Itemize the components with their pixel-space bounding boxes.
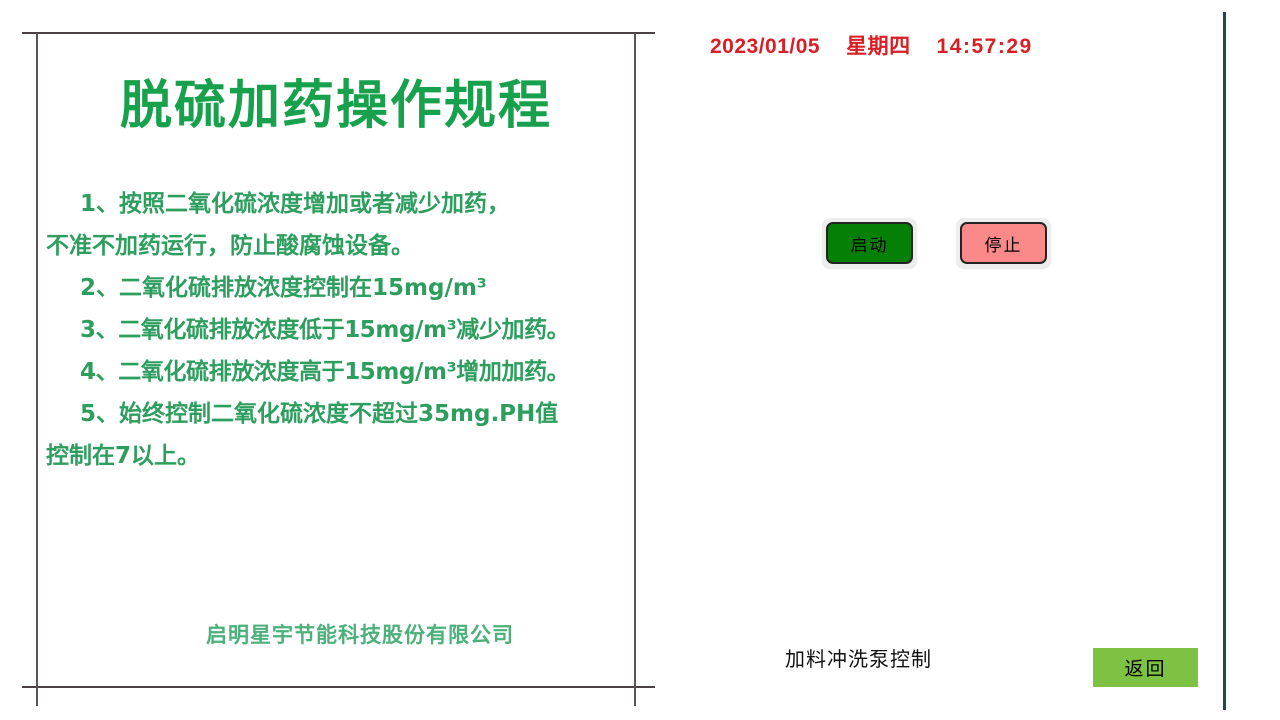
procedure-item-3: 3、二氧化硫排放浓度低于15mg/m³减少加药。 — [38, 309, 634, 351]
right-divider-line — [1223, 12, 1226, 710]
document-company-signature: 启明星宇节能科技股份有限公司 — [38, 619, 634, 649]
document-right-rule — [634, 33, 636, 706]
procedure-item-2: 2、二氧化硫排放浓度控制在15mg/m³ — [38, 267, 634, 309]
procedure-item-1: 1、按照二氧化硫浓度增加或者减少加药， — [38, 183, 634, 225]
procedure-item-1-cont: 不准不加药运行，防止酸腐蚀设备。 — [38, 225, 634, 267]
procedure-item-5-cont: 控制在7以上。 — [38, 435, 634, 477]
procedure-item-5: 5、始终控制二氧化硫浓度不超过35mg.PH值 — [38, 393, 634, 435]
back-button[interactable]: 返回 — [1093, 648, 1198, 687]
document-title: 脱硫加药操作规程 — [38, 77, 634, 135]
document-bottom-rule — [22, 686, 655, 688]
procedure-item-4: 4、二氧化硫排放浓度高于15mg/m³增加加药。 — [38, 351, 634, 393]
start-button-frame: 启动 — [822, 218, 917, 268]
weekday-text: 星期四 — [846, 30, 911, 60]
stop-button-frame: 停止 — [956, 218, 1051, 268]
document-panel: 脱硫加药操作规程 1、按照二氧化硫浓度增加或者减少加药， 不准不加药运行，防止酸… — [0, 0, 670, 720]
document-procedure-list: 1、按照二氧化硫浓度增加或者减少加药， 不准不加药运行，防止酸腐蚀设备。 2、二… — [38, 183, 634, 477]
start-button[interactable]: 启动 — [826, 222, 913, 264]
date-text: 2023/01/05 — [710, 35, 820, 59]
time-text: 14:57:29 — [937, 35, 1033, 59]
stop-button[interactable]: 停止 — [960, 222, 1047, 264]
pump-control-label: 加料冲洗泵控制 — [785, 643, 932, 672]
document-body: 脱硫加药操作规程 1、按照二氧化硫浓度增加或者减少加药， 不准不加药运行，防止酸… — [38, 35, 634, 686]
datetime-display: 2023/01/05 星期四 14:57:29 — [710, 30, 1033, 60]
control-panel: 2023/01/05 星期四 14:57:29 启动 停止 加料冲洗泵控制 返回 — [670, 0, 1280, 720]
document-top-rule — [22, 32, 655, 34]
